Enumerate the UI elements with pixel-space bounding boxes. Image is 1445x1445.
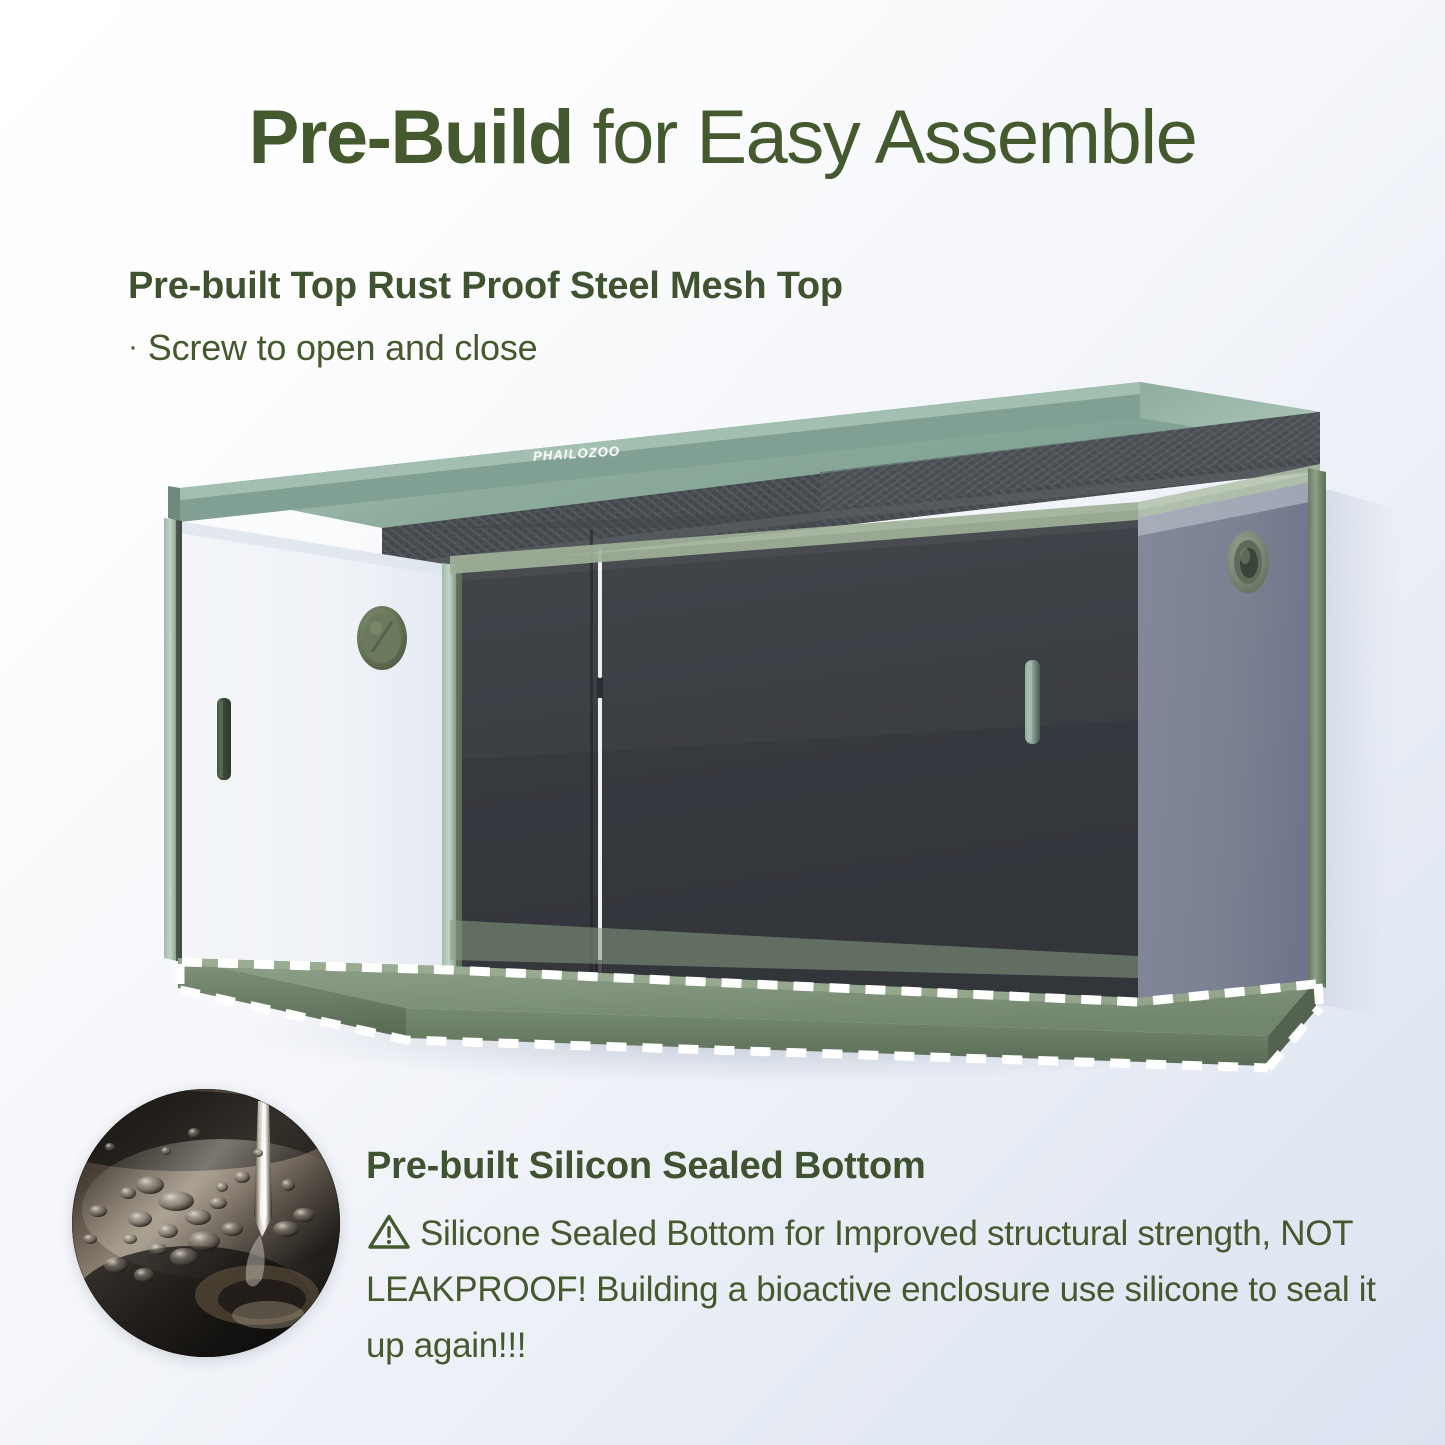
top-feature-block: Pre-built Top Rust Proof Steel Mesh Top … xyxy=(128,262,1128,371)
terrarium-illustration xyxy=(120,360,1400,1100)
warning-triangle-icon xyxy=(366,1212,412,1252)
infographic-page: Pre-Build for Easy Assemble Pre-built To… xyxy=(0,0,1445,1445)
page-title-strong: Pre-Build xyxy=(249,95,573,180)
bottom-feature-body: Silicone Sealed Bottom for Improved stru… xyxy=(366,1214,1376,1365)
bottom-feature-block: Pre-built Silicon Sealed Bottom Silicone… xyxy=(366,1142,1376,1374)
right-frame-post xyxy=(1308,468,1326,988)
page-title-light: for Easy Assemble xyxy=(573,95,1197,180)
right-door-handle[interactable] xyxy=(1025,660,1040,744)
page-title: Pre-Build for Easy Assemble xyxy=(0,95,1445,181)
left-glass-door[interactable] xyxy=(164,518,450,972)
silicone-photo-inset xyxy=(72,1089,340,1357)
right-glass-panel xyxy=(1138,470,1326,1020)
product-image: PHAILOZOO xyxy=(120,360,1400,1100)
top-feature-title: Pre-built Top Rust Proof Steel Mesh Top xyxy=(128,262,1128,310)
water-droplets-photo xyxy=(72,1089,340,1357)
bottom-feature-title: Pre-built Silicon Sealed Bottom xyxy=(366,1142,1376,1190)
center-frame-post xyxy=(442,563,462,974)
bullet-dot-icon: · xyxy=(128,330,138,363)
cord-port-right-icon xyxy=(1227,531,1269,593)
bottom-feature-body-wrap: Silicone Sealed Bottom for Improved stru… xyxy=(366,1206,1376,1374)
cord-port-left-icon xyxy=(357,606,407,670)
